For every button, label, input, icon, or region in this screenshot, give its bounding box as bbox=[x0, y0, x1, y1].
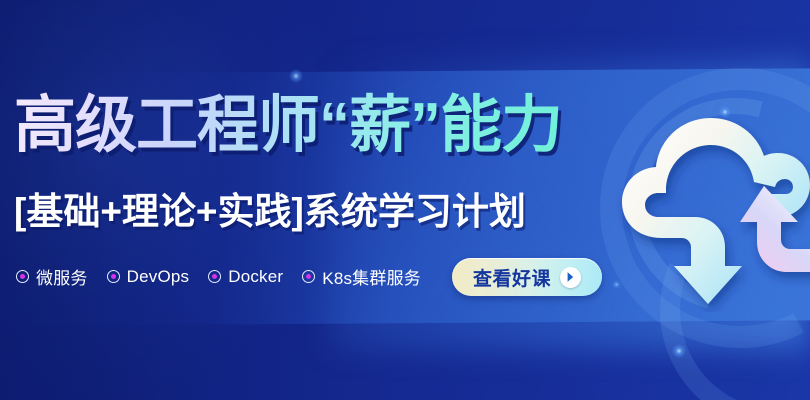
view-courses-button[interactable]: 查看好课 bbox=[452, 258, 602, 296]
feature-item-k8s: K8s集群服务 bbox=[302, 264, 421, 289]
feature-label: Docker bbox=[228, 267, 283, 287]
radio-dot-icon bbox=[16, 270, 29, 283]
feature-label: K8s集群服务 bbox=[322, 264, 421, 289]
feature-label: 微服务 bbox=[36, 264, 88, 289]
feature-item-microservices: 微服务 bbox=[16, 264, 88, 289]
cta-label: 查看好课 bbox=[473, 264, 551, 291]
chevron-right-icon bbox=[560, 267, 581, 288]
banner-subtitle: [基础+理论+实践]系统学习计划 bbox=[14, 186, 526, 238]
page-title: 高级工程师“薪”能力 bbox=[14, 88, 562, 164]
feature-list: 微服务 DevOps Docker K8s集群服务 bbox=[16, 264, 421, 289]
sparkle-dot bbox=[672, 344, 686, 358]
feature-item-devops: DevOps bbox=[107, 267, 190, 287]
radio-dot-icon bbox=[302, 270, 315, 283]
feature-label: DevOps bbox=[127, 267, 190, 287]
promo-banner: 高级工程师“薪”能力 [基础+理论+实践]系统学习计划 微服务 DevOps D… bbox=[0, 0, 810, 400]
banner-content: 高级工程师“薪”能力 [基础+理论+实践]系统学习计划 微服务 DevOps D… bbox=[0, 0, 660, 400]
feature-item-docker: Docker bbox=[208, 267, 283, 287]
radio-dot-icon bbox=[208, 270, 221, 283]
radio-dot-icon bbox=[107, 270, 120, 283]
